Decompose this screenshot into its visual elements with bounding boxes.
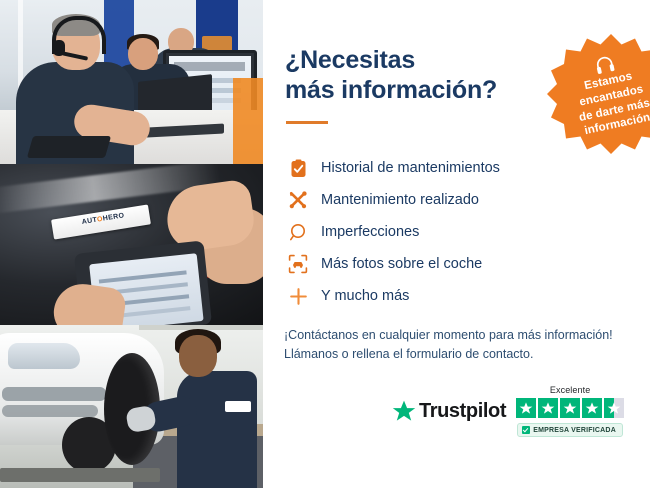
feature-item-maintenance-done: Mantenimiento realizado [283, 184, 650, 216]
magnifier-icon [283, 223, 313, 242]
star-filled-3 [560, 398, 580, 418]
car-lower-grille [2, 405, 98, 417]
title-divider [286, 121, 328, 124]
feature-item-imperfections: Imperfecciones [283, 216, 650, 248]
trustpilot-score-block: Excelente EMPRESA [516, 385, 624, 437]
feature-item-much-more: Y mucho más [283, 280, 650, 312]
star-half-5 [604, 398, 624, 418]
car-headlight [8, 343, 80, 369]
promo-card: AUTOHERO [0, 0, 650, 488]
car-lift-arm [0, 468, 160, 482]
trustpilot-logo: Trustpilot [392, 400, 506, 423]
contact-paragraph-line-1: ¡Contáctanos en cualquier momento para m… [284, 326, 650, 345]
verified-company-label: EMPRESA VERIFICADA [533, 427, 616, 434]
feature-list: Historial de mantenimientos Mantenimient… [283, 152, 650, 312]
orange-panel-decor [233, 78, 263, 164]
car-grille [2, 387, 106, 401]
verified-check-icon [522, 426, 530, 434]
promo-badge: Estamos encantados de darte más informac… [547, 30, 650, 158]
wrench-screwdriver-icon [283, 190, 313, 210]
brand-suffix: HERO [102, 212, 125, 222]
photo-call-center [0, 0, 263, 164]
page-title-line-1: ¿Necesitas [285, 46, 415, 74]
feature-label: Imperfecciones [321, 224, 419, 240]
page-title: ¿Necesitas más información? [285, 46, 515, 105]
uniform-logo-patch [225, 401, 251, 412]
trustpilot-stars [516, 398, 624, 418]
photo-column: AUTOHERO [0, 0, 263, 488]
starburst-shape-icon [547, 30, 650, 158]
trustpilot-rating[interactable]: Trustpilot Excelente [392, 385, 622, 437]
trustpilot-rating-label: Excelente [550, 385, 590, 395]
verified-company-badge: EMPRESA VERIFICADA [517, 423, 623, 437]
star-filled-4 [582, 398, 602, 418]
mechanic-head [179, 335, 217, 377]
car-scan-icon [283, 254, 313, 274]
photo-wheel-check [0, 325, 263, 488]
autohero-brand-label: AUTOHERO [81, 212, 125, 226]
agent-2-head [128, 38, 158, 70]
feature-label: Más fotos sobre el coche [321, 256, 482, 272]
feature-label: Mantenimiento realizado [321, 192, 479, 208]
star-filled-1 [516, 398, 536, 418]
page-title-line-2: más información? [285, 76, 497, 104]
trustpilot-brand-name: Trustpilot [419, 400, 506, 423]
feature-item-more-photos: Más fotos sobre el coche [283, 248, 650, 280]
plus-icon [283, 287, 313, 306]
trustpilot-star-icon [392, 400, 416, 423]
feature-label: Historial de mantenimientos [321, 160, 500, 176]
photo-car-inspection: AUTOHERO [0, 164, 263, 325]
desk-tablet [27, 136, 111, 158]
mechanic-body [177, 371, 257, 488]
contact-paragraph: ¡Contáctanos en cualquier momento para m… [284, 326, 650, 365]
brand-prefix: AUT [81, 217, 97, 226]
contact-paragraph-line-2: Llámanos o rellena el formulario de cont… [284, 345, 650, 364]
feature-label: Y mucho más [321, 288, 409, 304]
star-filled-2 [538, 398, 558, 418]
clipboard-check-icon [283, 159, 313, 178]
